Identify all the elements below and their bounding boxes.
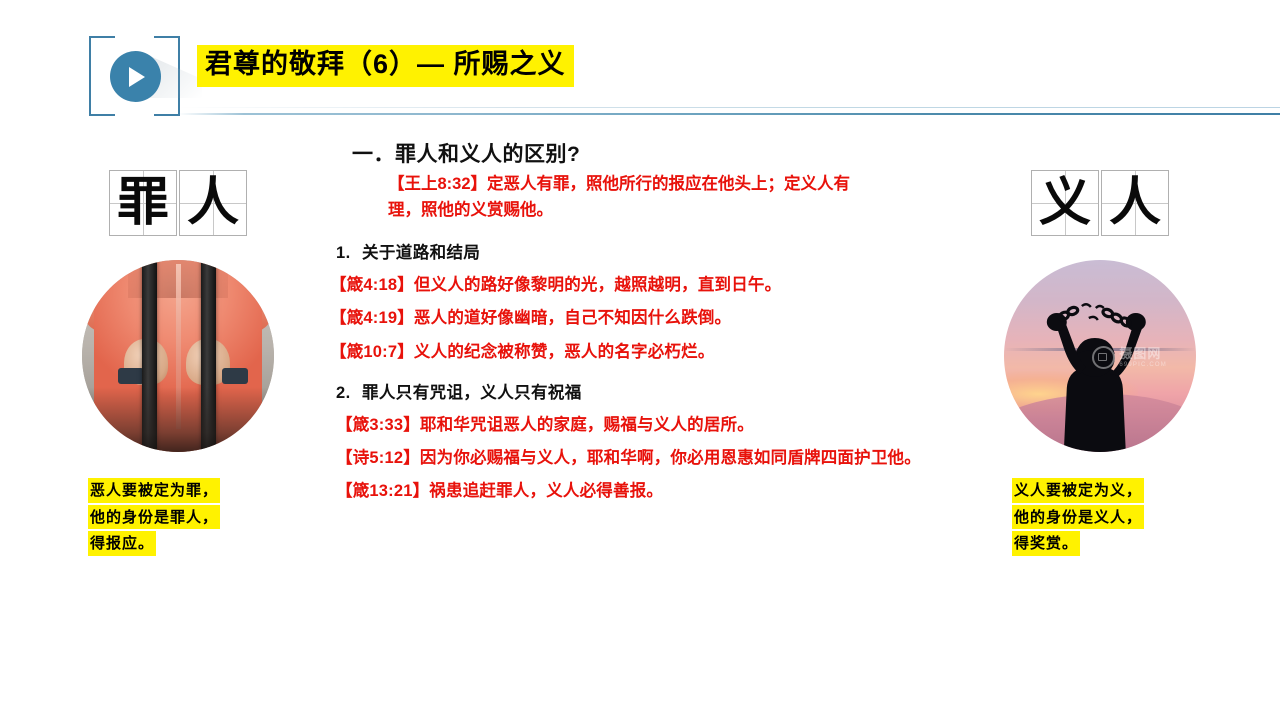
point-number-1: 1.: [336, 244, 362, 263]
grid-char: 人: [1102, 171, 1168, 235]
caption-line: 得奖赏。: [1012, 531, 1080, 556]
verse-item: 【箴13:21】祸患追赶罪人，义人必得善报。: [336, 480, 970, 502]
grid-char: 人: [180, 171, 246, 235]
header-divider: [178, 113, 1280, 115]
photo-man-silhouette: [1030, 302, 1160, 452]
point-title-1: 关于道路和结局: [362, 244, 480, 262]
photo-wristband-right: [222, 368, 248, 384]
grid-cell: 人: [179, 170, 247, 236]
caption-line: 他的身份是义人，: [1012, 505, 1144, 530]
verse-item: 【箴3:33】耶和华咒诅恶人的家庭，赐福与义人的居所。: [336, 414, 970, 436]
prisoner-behind-bars-photo: [82, 260, 274, 452]
verse-item: 【诗5:12】因为你必赐福与义人，耶和华啊，你必用恩惠如同盾牌四面护卫他。: [336, 447, 970, 469]
play-button-icon[interactable]: [110, 51, 161, 102]
verse-item: 【箴4:19】恶人的道好像幽暗，自己不知因什么跌倒。: [330, 307, 970, 329]
caption-line: 得报应。: [88, 531, 156, 556]
section-heading: 一．罪人和义人的区别?: [352, 138, 970, 168]
point-heading-1: 1.关于道路和结局: [336, 239, 970, 263]
right-grid-word: 义 人: [990, 170, 1210, 236]
point-heading-2: 2.罪人只有咒诅，义人只有祝福: [336, 379, 970, 403]
frame-corner-bottom-right: [154, 92, 180, 116]
left-caption: 恶人要被定为罪， 他的身份是罪人， 得报应。: [68, 478, 288, 556]
frame-corner-top-right: [154, 36, 180, 60]
photo-bottom-shadow: [82, 387, 274, 452]
verse-item: 【箴10:7】义人的纪念被称赞，恶人的名字必朽烂。: [330, 341, 970, 363]
page-title: 君尊的敬拜（6）— 所赐之义: [197, 45, 574, 87]
opening-verse: 【王上8:32】定恶人有罪，照他所行的报应在他头上；定义人有理，照他的义赏赐他。: [388, 172, 858, 223]
grid-cell: 罪: [109, 170, 177, 236]
caption-line: 他的身份是罪人，: [88, 505, 220, 530]
man-breaking-chains-sunset-photo: 摄图网 699PIC.COM: [1004, 260, 1196, 452]
header-divider-soft: [178, 107, 1280, 108]
right-panel: 义 人: [990, 170, 1210, 558]
caption-line: 义人要被定为义，: [1012, 478, 1144, 503]
grid-cell: 人: [1101, 170, 1169, 236]
point-title-2: 罪人只有咒诅，义人只有祝福: [362, 384, 582, 402]
grid-char: 义: [1032, 171, 1098, 235]
caption-line: 恶人要被定为罪，: [88, 478, 220, 503]
frame-corner-top-left: [89, 36, 115, 60]
grid-char: 罪: [110, 171, 176, 235]
left-panel: 罪 人 恶人要被定为罪， 他的身份是罪人， 得报应。: [68, 170, 288, 558]
slide-header: 君尊的敬拜（6）— 所赐之义: [0, 0, 1280, 130]
verse-item: 【箴4:18】但义人的路好像黎明的光，越照越明，直到日午。: [330, 274, 970, 296]
right-caption: 义人要被定为义， 他的身份是义人， 得奖赏。: [990, 478, 1210, 556]
slide-canvas: 君尊的敬拜（6）— 所赐之义 一．罪人和义人的区别? 【王上8:32】定恶人有罪…: [0, 0, 1280, 720]
main-content: 一．罪人和义人的区别? 【王上8:32】定恶人有罪，照他所行的报应在他头上；定义…: [330, 138, 970, 503]
frame-corner-bottom-left: [89, 92, 115, 116]
grid-cell: 义: [1031, 170, 1099, 236]
left-grid-word: 罪 人: [68, 170, 288, 236]
point-number-2: 2.: [336, 384, 362, 403]
